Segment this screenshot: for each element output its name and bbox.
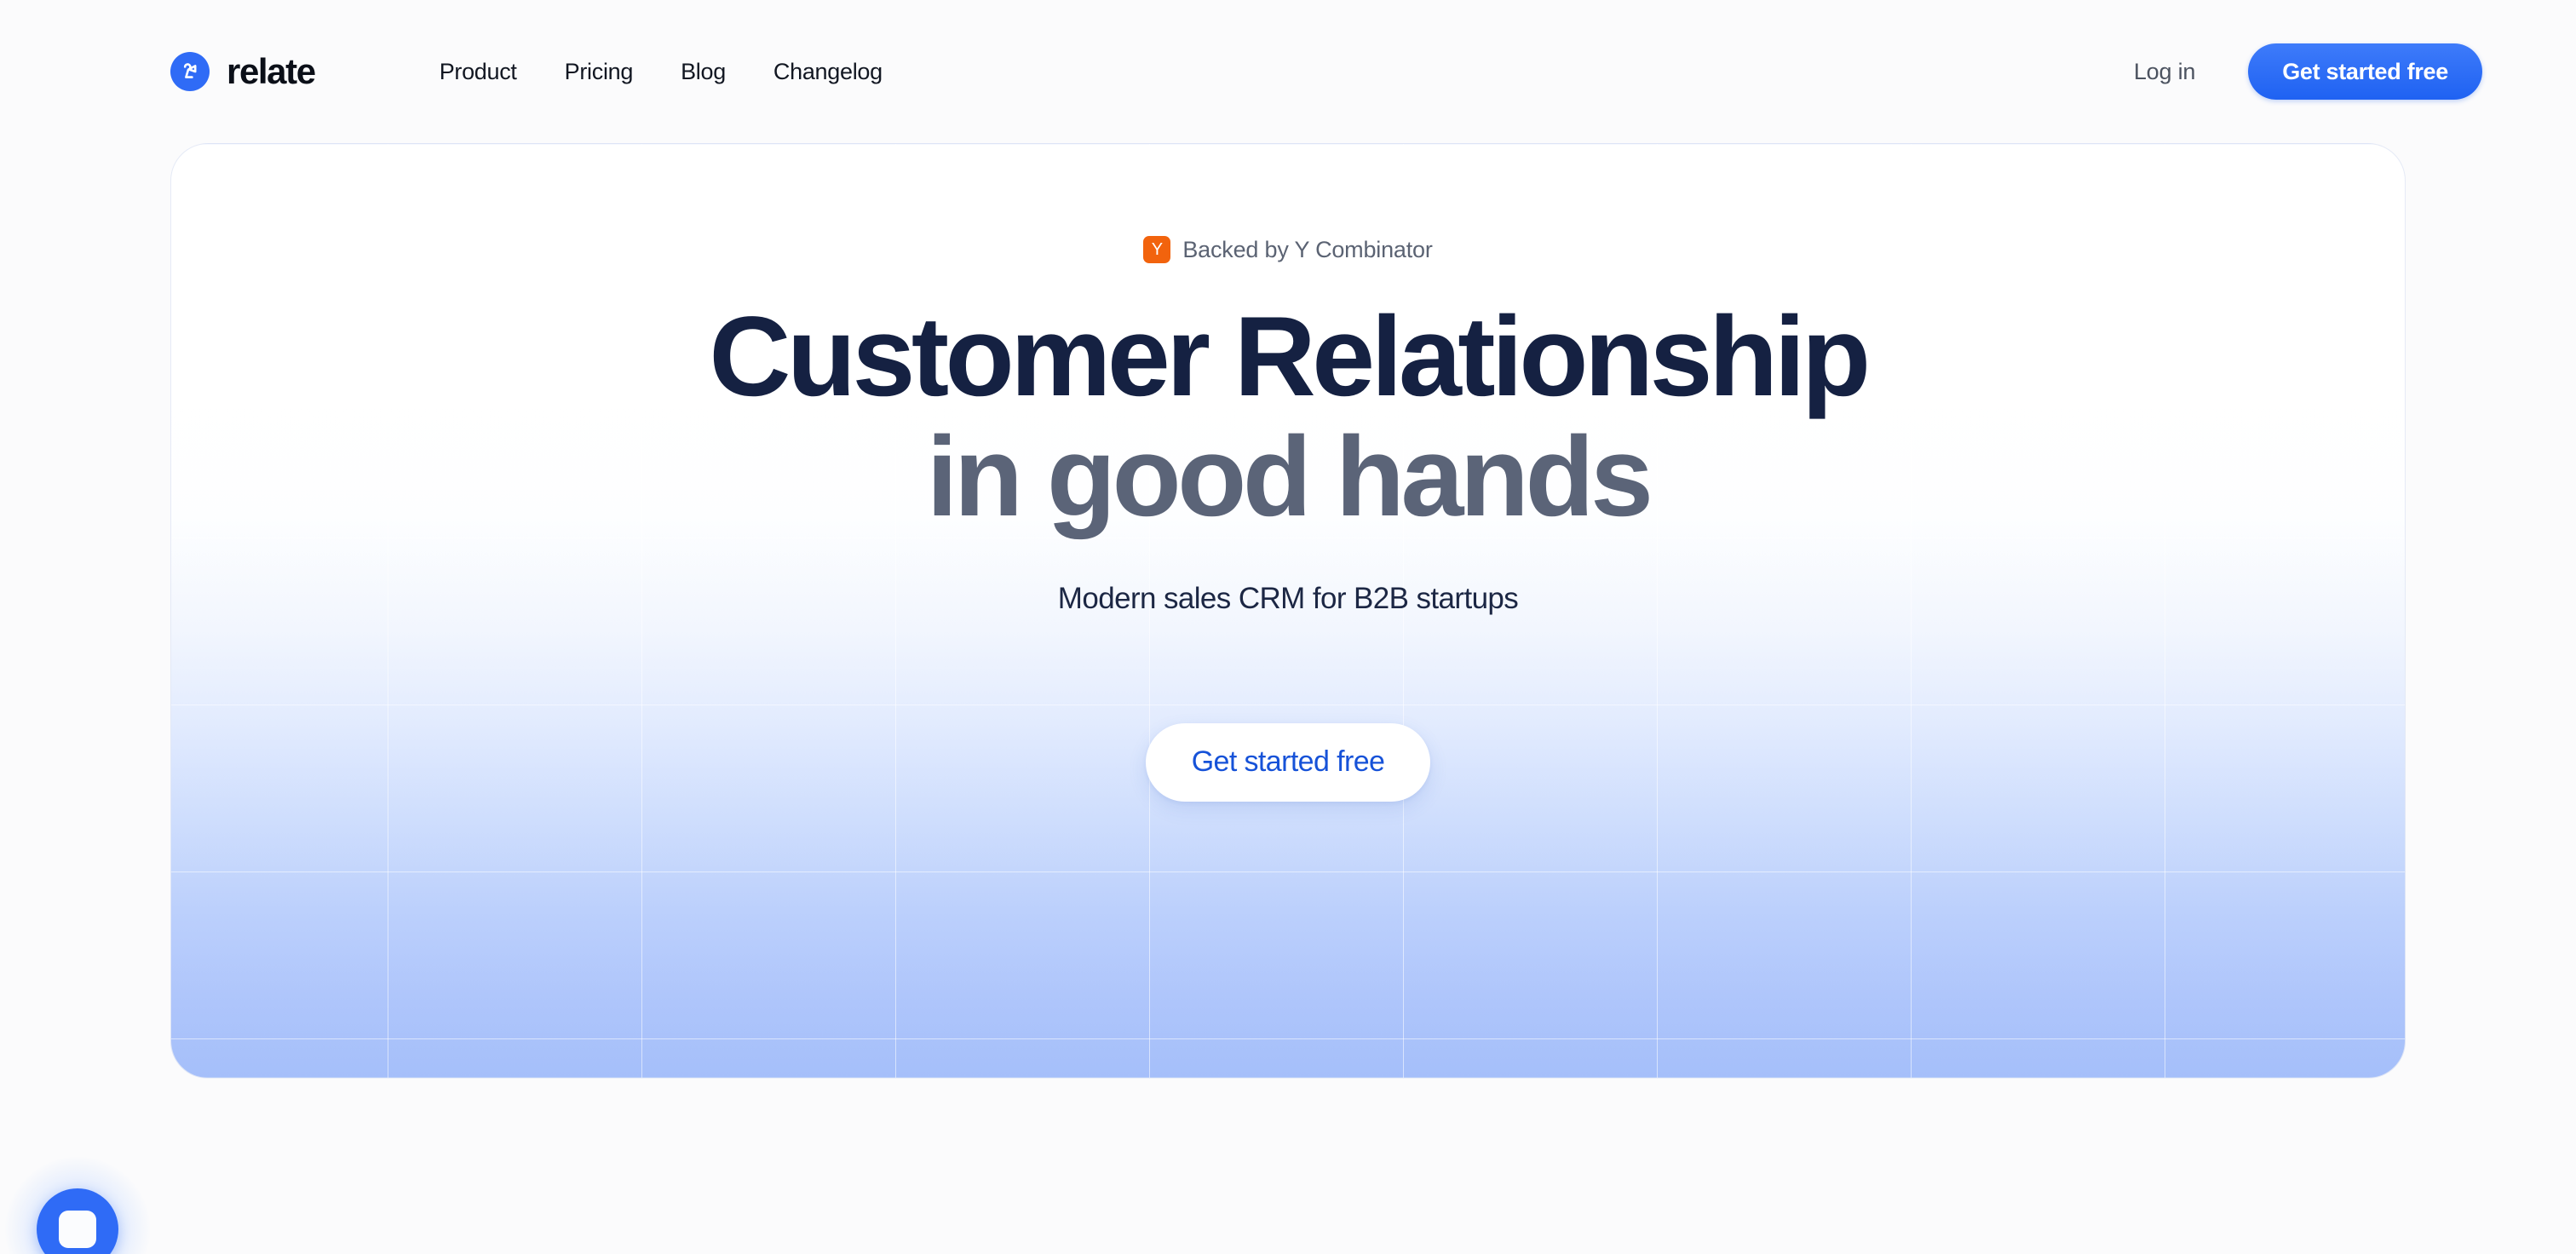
nav-item-product[interactable]: Product — [440, 59, 517, 85]
chat-bubble-icon — [59, 1211, 96, 1248]
header-actions: Log in Get started free — [2134, 43, 2482, 100]
page-title: Customer Relationship in good hands — [709, 297, 1866, 538]
hero-content: Y Backed by Y Combinator Customer Relati… — [171, 144, 2405, 1078]
login-link[interactable]: Log in — [2134, 59, 2195, 85]
relate-bow-logo-icon — [170, 52, 210, 91]
chat-widget — [5, 1157, 150, 1254]
headline-line-2: in good hands — [709, 417, 1866, 538]
brand-name: relate — [227, 54, 315, 89]
primary-navigation: Product Pricing Blog Changelog — [440, 59, 883, 85]
y-combinator-icon: Y — [1143, 236, 1170, 263]
yc-backed-label: Backed by Y Combinator — [1182, 237, 1432, 263]
hero-section: Y Backed by Y Combinator Customer Relati… — [170, 143, 2406, 1079]
yc-backed-badge: Y Backed by Y Combinator — [1143, 236, 1432, 263]
chat-bubble-icon-button[interactable] — [37, 1188, 118, 1254]
nav-item-pricing[interactable]: Pricing — [565, 59, 633, 85]
nav-item-changelog[interactable]: Changelog — [773, 59, 883, 85]
headline-line-1: Customer Relationship — [709, 297, 1866, 417]
nav-item-blog[interactable]: Blog — [681, 59, 726, 85]
get-started-free-button-header[interactable]: Get started free — [2248, 43, 2482, 100]
get-started-free-button-hero[interactable]: Get started free — [1146, 723, 1431, 802]
hero-subtitle: Modern sales CRM for B2B startups — [1058, 582, 1518, 616]
site-header: relate Product Pricing Blog Changelog Lo… — [0, 0, 2576, 143]
brand-logo-link[interactable]: relate — [170, 52, 315, 91]
